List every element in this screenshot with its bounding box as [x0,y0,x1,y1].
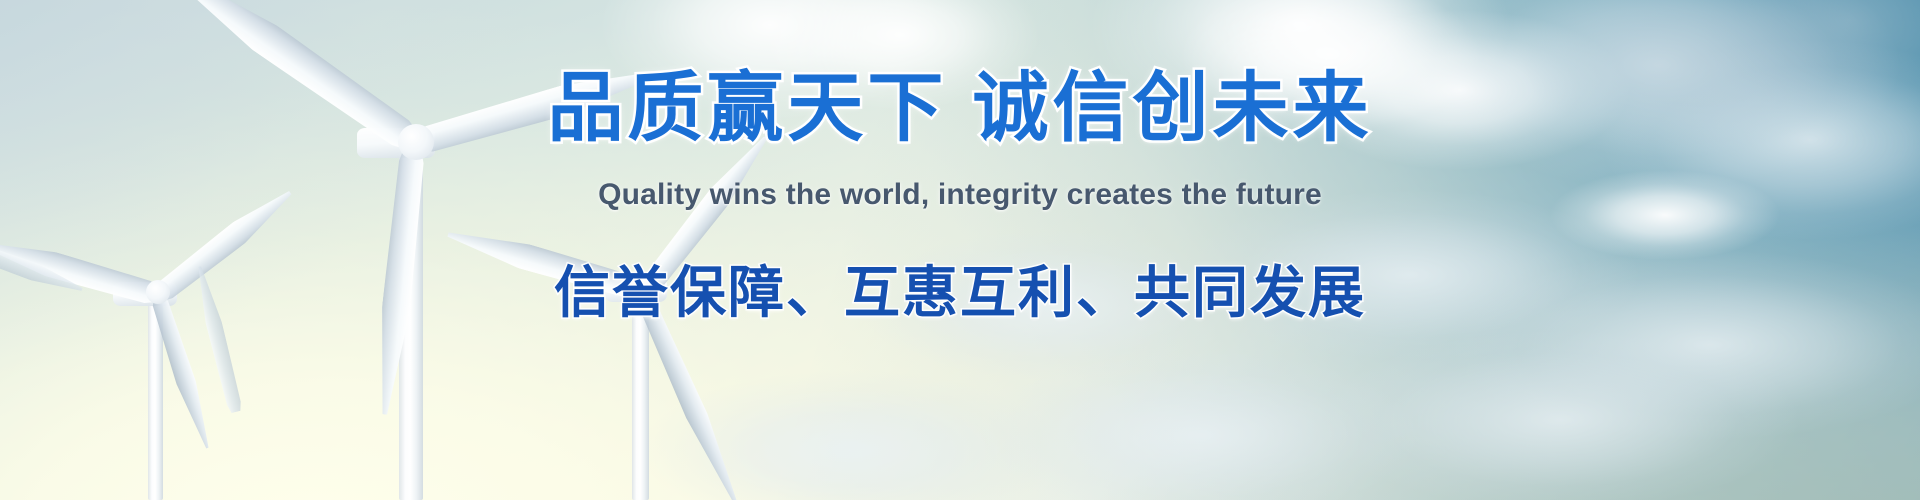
wind-turbine-group [0,0,1920,500]
turbine-blade [633,291,747,500]
turbine-blade [444,222,648,303]
turbine-blade [411,60,660,158]
turbine-blade [151,183,298,305]
hero-banner: 品质赢天下 诚信创未来 Quality wins the world, inte… [0,0,1920,500]
turbine-hub [630,276,656,302]
turbine-hub [146,280,170,304]
turbine-blade [636,130,776,299]
turbine-blade [160,0,425,157]
turbine-hub [398,124,434,160]
